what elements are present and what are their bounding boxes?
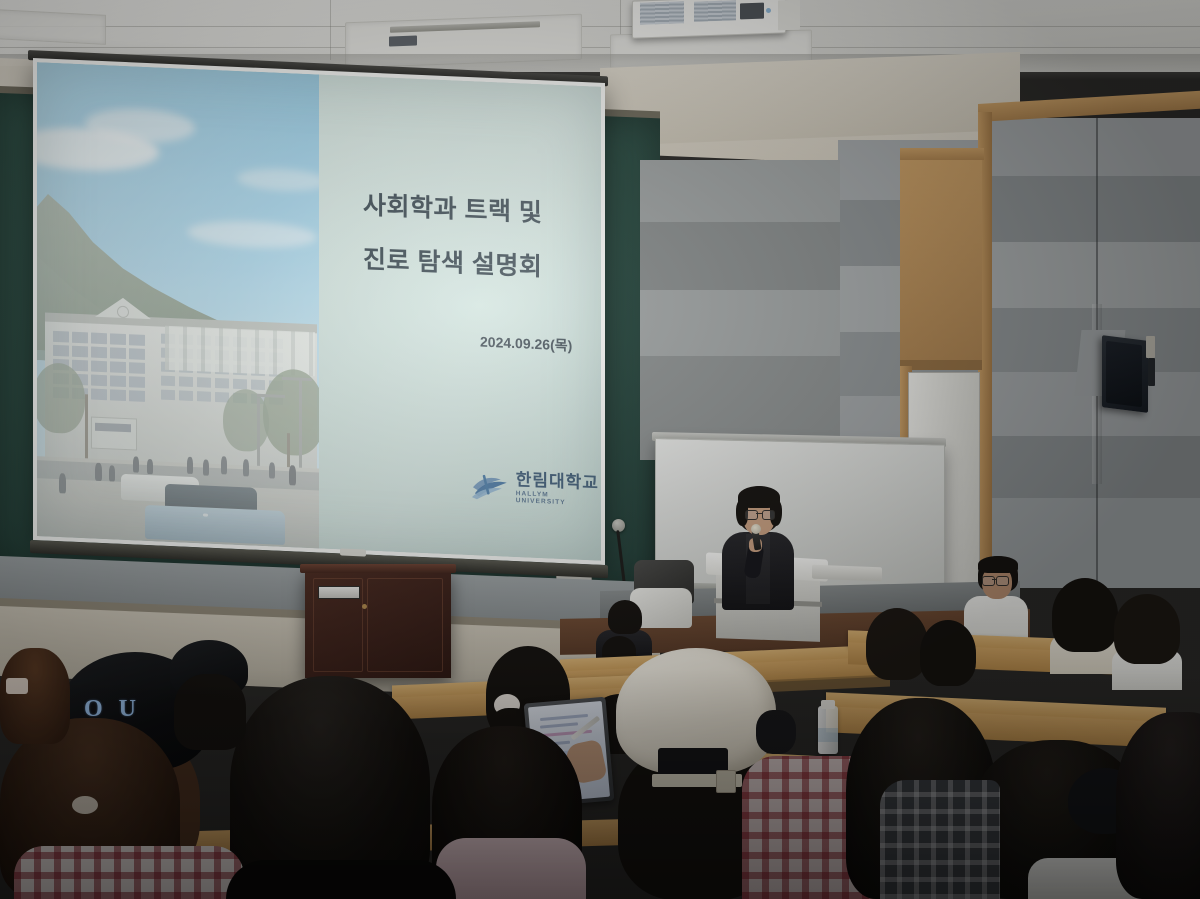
- university-logo: 한림대학교 HALLYM UNIVERSITY: [471, 469, 601, 508]
- cream-cap-brim: [756, 710, 796, 754]
- ac-vent-far-left: [0, 9, 106, 45]
- logo-korean: 한림대학교: [516, 471, 601, 493]
- audience-head-mid-3: [1048, 578, 1122, 668]
- presenter: [716, 486, 802, 606]
- hallym-wave-icon: [471, 471, 511, 503]
- projector-led: [766, 8, 771, 13]
- audience-head-mid-2: [920, 620, 976, 686]
- audience-front-head-8: [0, 648, 70, 744]
- plaid-shirt-front: [14, 846, 244, 899]
- projection-screen: 사회학과 트랙 및 진로 탐색 설명회 2024.09.26(목) 한림대학교 …: [33, 58, 605, 565]
- hair-clip: [6, 678, 28, 694]
- lectern-nameplate: [318, 586, 360, 599]
- plaid-shirt-dark: [880, 780, 1000, 899]
- screen-pull-handle[interactable]: [340, 548, 366, 556]
- microphone-head: [751, 524, 761, 534]
- pink-shirt: [436, 838, 586, 899]
- wood-cabinet: [900, 156, 982, 364]
- lecture-hall-photo: 사회학과 트랙 및 진로 탐색 설명회 2024.09.26(목) 한림대학교 …: [0, 0, 1200, 899]
- slide-date: 2024.09.26(목): [480, 332, 572, 356]
- bottle-cap: [821, 700, 835, 709]
- presenter-glasses: [745, 510, 758, 520]
- cream-cap-buckle: [716, 770, 736, 793]
- audience-head-mid-1: [866, 608, 928, 680]
- lectern-knob[interactable]: [362, 604, 367, 609]
- slide: 사회학과 트랙 및 진로 탐색 설명회 2024.09.26(목) 한림대학교 …: [37, 62, 601, 561]
- audience-head-mid-4: [1112, 594, 1182, 682]
- acoustic-panel-wall-back: [640, 160, 840, 460]
- ac-vent-slot: [389, 35, 417, 46]
- podium-side-desk: [812, 565, 882, 582]
- slide-photo: [37, 62, 319, 548]
- hair-tie: [72, 796, 98, 814]
- audience-shoulder-dark: [226, 860, 456, 899]
- audience-front-head-7: [170, 640, 248, 750]
- audience-man-glasses: [982, 576, 995, 586]
- audience-front-head-6: [1116, 712, 1200, 899]
- speaker-bracket: [1146, 336, 1155, 358]
